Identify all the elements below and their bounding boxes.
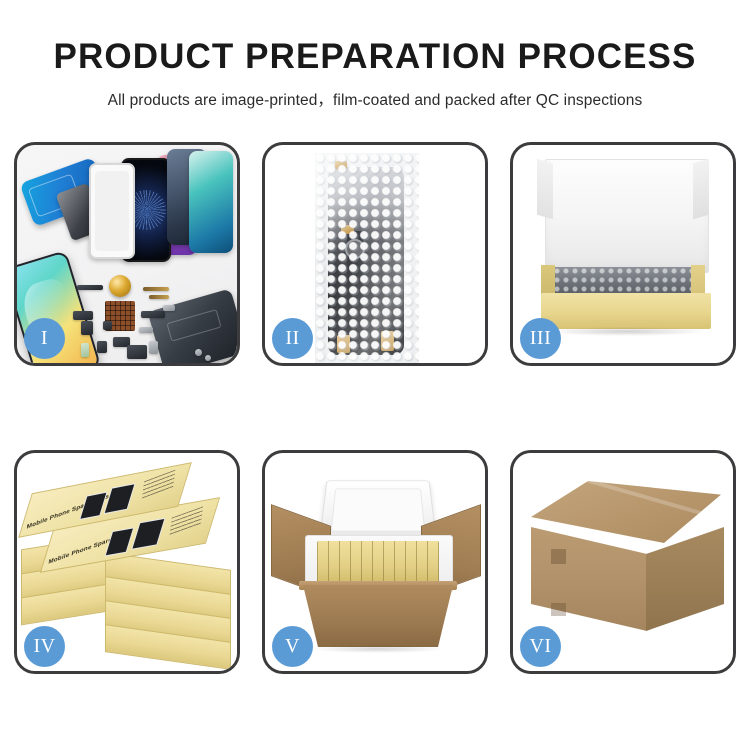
lid-flap-right-icon bbox=[693, 159, 709, 220]
foam-lid-icon bbox=[319, 480, 437, 541]
part-icon bbox=[149, 341, 158, 354]
spec-lines-icon bbox=[142, 470, 176, 500]
drop-shadow bbox=[313, 645, 443, 653]
page-subtitle: All products are image-printed，film-coat… bbox=[0, 88, 750, 110]
page-title: PRODUCT PREPARATION PROCESS bbox=[0, 38, 750, 77]
step-panel-4[interactable]: Mobile Phone Spare Parts Mobile Phone Sp… bbox=[14, 450, 240, 674]
yellow-box-front-icon bbox=[541, 293, 711, 329]
part-icon bbox=[163, 305, 175, 311]
page-header: PRODUCT PREPARATION PROCESS All products… bbox=[0, 0, 750, 110]
step-badge-5: V bbox=[272, 626, 313, 667]
part-icon bbox=[103, 321, 112, 330]
part-icon bbox=[141, 311, 165, 318]
part-icon bbox=[143, 287, 169, 291]
part-icon bbox=[127, 345, 147, 359]
part-icon bbox=[81, 321, 93, 335]
bubble-wrap-package-icon bbox=[315, 153, 419, 363]
screen-swatch-icon bbox=[79, 491, 107, 520]
screen-swatch-icon bbox=[103, 483, 135, 514]
step-panel-5[interactable]: V bbox=[262, 450, 488, 674]
packed-yellow-boxes-icon bbox=[317, 541, 439, 583]
speaker-coil-icon bbox=[109, 275, 131, 297]
drop-shadow bbox=[547, 327, 705, 336]
step-badge-2: II bbox=[272, 318, 313, 359]
carton-tape-icon bbox=[551, 603, 566, 616]
carton-tape-icon bbox=[551, 549, 566, 564]
part-icon bbox=[139, 327, 153, 333]
part-icon bbox=[97, 341, 107, 353]
plastic-sheen-icon bbox=[315, 153, 419, 363]
bubble-padding-icon bbox=[553, 267, 699, 295]
step-badge-6: VI bbox=[520, 626, 561, 667]
part-icon bbox=[195, 349, 202, 356]
screen-swatch-icon bbox=[104, 527, 134, 556]
step-panel-6[interactable]: VI bbox=[510, 450, 736, 674]
white-bezel-screen-icon bbox=[89, 163, 135, 259]
step-panel-1[interactable]: I bbox=[14, 142, 240, 366]
part-icon bbox=[81, 343, 89, 357]
step-panel-3[interactable]: III bbox=[510, 142, 736, 366]
step-badge-1: I bbox=[24, 318, 65, 359]
lid-flap-left-icon bbox=[537, 159, 553, 220]
screen-swatch-icon bbox=[131, 518, 165, 550]
carton-front-icon bbox=[303, 585, 453, 647]
step-panel-2[interactable]: II bbox=[262, 142, 488, 366]
step-badge-4: IV bbox=[24, 626, 65, 667]
part-icon bbox=[73, 311, 93, 320]
part-icon bbox=[77, 285, 103, 290]
part-icon bbox=[205, 355, 211, 361]
white-box-lid-icon bbox=[545, 159, 709, 273]
process-steps-grid: I II bbox=[14, 142, 736, 674]
teal-phone-icon bbox=[189, 151, 233, 253]
step-badge-3: III bbox=[520, 318, 561, 359]
spec-lines-icon bbox=[169, 506, 203, 535]
part-icon bbox=[149, 295, 169, 299]
